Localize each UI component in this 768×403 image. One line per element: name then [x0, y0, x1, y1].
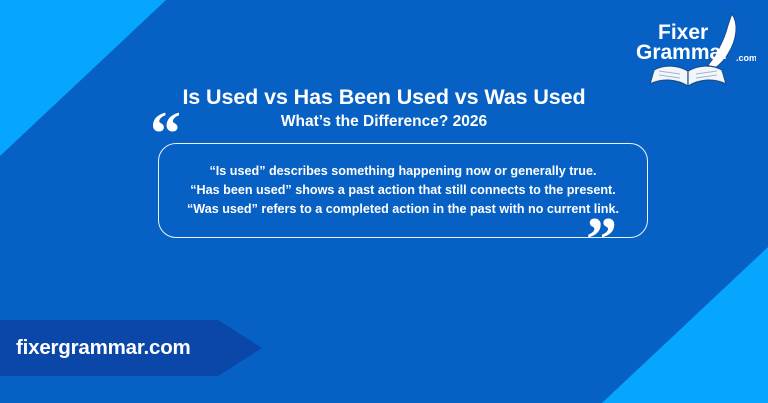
- svg-text:.com: .com: [736, 53, 756, 63]
- top-left-accent-triangle: [0, 0, 166, 156]
- promo-graphic: Fixer Grammar .com Is Used vs Has Been U…: [0, 0, 768, 403]
- footer-website-label: fixergrammar.com: [0, 336, 191, 360]
- open-book-icon: [650, 66, 726, 86]
- page-subtitle: What’s the Difference? 2026: [0, 113, 768, 132]
- footer-website-banner[interactable]: fixergrammar.com: [0, 320, 262, 376]
- quote-card: “Is used” describes something happening …: [158, 143, 648, 238]
- quote-body-text: “Is used” describes something happening …: [169, 162, 637, 219]
- closing-quote-icon: ”: [586, 209, 617, 271]
- brand-logo-artwork: Fixer Grammar .com: [628, 8, 756, 90]
- page-title: Is Used vs Has Been Used vs Was Used: [0, 86, 768, 110]
- svg-text:Grammar: Grammar: [636, 41, 729, 64]
- brand-logo[interactable]: Fixer Grammar .com: [628, 8, 756, 90]
- bottom-right-accent-triangle: [602, 247, 768, 403]
